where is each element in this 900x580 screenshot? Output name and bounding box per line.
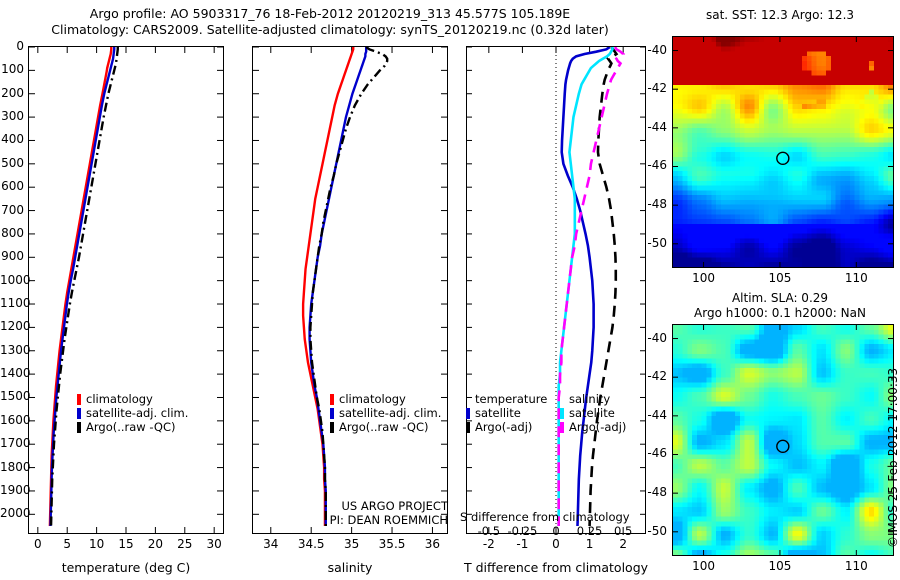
legend-label: Argo(-adj) <box>475 420 532 434</box>
legend-item: Argo(-adj) <box>560 420 626 434</box>
map-x-tick-label: 110 <box>836 559 876 573</box>
difference-top-axis-label: S difference from climatology <box>460 510 656 524</box>
legend-item: climatology <box>77 392 188 406</box>
map-x-tick-label: 100 <box>684 559 724 573</box>
legend-item: Argo(..raw -QC) <box>330 420 441 434</box>
y-tick-label: 0 <box>0 39 24 53</box>
salinity-panel <box>252 46 448 534</box>
legend-label: climatology <box>339 392 406 406</box>
legend-swatch-temperature-satellite <box>466 408 470 419</box>
salinity-profile-plot <box>253 47 447 533</box>
difference-legend-salinity: salinity satellite Argo(-adj) <box>560 392 626 434</box>
x-tick-label: 30 <box>194 537 234 551</box>
legend-swatch-temperature-argo-adj <box>466 422 470 433</box>
temperature-profile-plot <box>29 47 223 533</box>
y-tick-label: 1000 <box>0 273 24 287</box>
temperature-panel <box>28 46 224 534</box>
y-tick-label: 1900 <box>0 483 24 497</box>
principal-investigator-text: PI: DEAN ROEMMICH <box>268 513 448 527</box>
x-tick-label: 36 <box>407 537 457 551</box>
difference-series-3 <box>559 47 623 526</box>
map-y-tick-label: -48 <box>635 197 667 211</box>
difference-series-2 <box>559 47 613 526</box>
map-y-tick-label: -44 <box>635 120 667 134</box>
legend-swatch-satellite-adj <box>330 408 334 419</box>
legend-label: satellite <box>569 406 615 420</box>
y-tick-label: 200 <box>0 86 24 100</box>
salinity-series-2 <box>310 47 387 526</box>
map-y-tick-label: -46 <box>635 158 667 172</box>
y-tick-label: 100 <box>0 62 24 76</box>
salinity-series-1 <box>310 47 367 526</box>
sst-map-image <box>673 37 893 267</box>
difference-bottom-axis-label: T difference from climatology <box>458 560 654 575</box>
sla-map-title-line1: Altim. SLA: 0.29 <box>660 291 900 305</box>
difference-profile-plot <box>467 47 645 533</box>
temperature-series-1 <box>50 47 114 526</box>
y-tick-label: 400 <box>0 132 24 146</box>
y-tick-label: 1300 <box>0 343 24 357</box>
salinity-legend: climatology satellite-adj. clim. Argo(..… <box>330 392 441 434</box>
salinity-x-axis-label: salinity <box>252 560 448 575</box>
temperature-x-axis-label: temperature (deg C) <box>28 560 224 575</box>
legend-item: Argo(-adj) <box>466 420 547 434</box>
y-tick-label: 1100 <box>0 296 24 310</box>
y-tick-label: 500 <box>0 156 24 170</box>
legend-label: Argo(-adj) <box>569 420 626 434</box>
legend-item: satellite <box>466 406 547 420</box>
legend-group-header: salinity <box>569 392 626 406</box>
legend-label: satellite <box>475 406 521 420</box>
legend-item: satellite-adj. clim. <box>330 406 441 420</box>
map-y-tick-label: -42 <box>635 369 667 383</box>
y-tick-label: 1500 <box>0 389 24 403</box>
legend-item: climatology <box>330 392 441 406</box>
y-tick-label: 1700 <box>0 436 24 450</box>
temperature-legend: climatology satellite-adj. clim. Argo(..… <box>77 392 188 434</box>
title-line-2: Climatology: CARS2009. Satellite-adjuste… <box>0 22 660 37</box>
sla-map-title-line2: Argo h1000: 0.1 h2000: NaN <box>660 306 900 320</box>
map-x-tick-label: 110 <box>836 271 876 285</box>
map-y-tick-label: -44 <box>635 408 667 422</box>
y-tick-label: 900 <box>0 249 24 263</box>
temperature-series-0 <box>50 47 111 526</box>
legend-label: satellite-adj. clim. <box>86 406 188 420</box>
y-tick-label: 700 <box>0 203 24 217</box>
temperature-series-2 <box>51 47 118 526</box>
y-tick-label: 300 <box>0 109 24 123</box>
legend-swatch-salinity-satellite <box>560 408 564 419</box>
legend-label: climatology <box>86 392 153 406</box>
map-y-tick-label: -46 <box>635 446 667 460</box>
legend-item: Argo(..raw -QC) <box>77 420 188 434</box>
title-line-1: Argo profile: AO 5903317_76 18-Feb-2012 … <box>0 6 660 21</box>
map-x-tick-label: 100 <box>684 271 724 285</box>
map-y-tick-label: -40 <box>635 331 667 345</box>
legend-item: satellite-adj. clim. <box>77 406 188 420</box>
legend-group-header: temperature <box>475 392 547 406</box>
sla-map <box>672 324 894 556</box>
difference-legend-temperature: temperature satellite Argo(-adj) <box>466 392 547 434</box>
copyright-text: ©IMOS 25-Feb-2012 17:00:33 <box>886 368 900 548</box>
map-y-tick-label: -48 <box>635 485 667 499</box>
map-x-tick-label: 105 <box>760 271 800 285</box>
map-y-tick-label: -50 <box>635 236 667 250</box>
y-tick-label: 2000 <box>0 506 24 520</box>
legend-swatch-satellite-adj <box>77 408 81 419</box>
legend-item: satellite <box>560 406 626 420</box>
legend-swatch-salinity-argo-adj <box>560 422 564 433</box>
map-y-tick-label: -50 <box>635 524 667 538</box>
legend-label: Argo(..raw -QC) <box>86 420 176 434</box>
us-argo-project-text: US ARGO PROJECT <box>268 499 448 513</box>
legend-label: Argo(..raw -QC) <box>339 420 429 434</box>
difference-panel <box>466 46 646 534</box>
legend-label: satellite-adj. clim. <box>339 406 441 420</box>
y-tick-label: 600 <box>0 179 24 193</box>
map-y-tick-label: -42 <box>635 81 667 95</box>
sst-map <box>672 36 894 268</box>
map-y-tick-label: -40 <box>635 43 667 57</box>
x-tick-label-bottom: 2 <box>603 537 643 551</box>
sst-map-title: sat. SST: 12.3 Argo: 12.3 <box>660 8 900 22</box>
sla-map-image <box>673 325 893 555</box>
legend-swatch-climatology <box>330 394 334 405</box>
y-tick-label: 1400 <box>0 366 24 380</box>
y-tick-label: 800 <box>0 226 24 240</box>
legend-swatch-climatology <box>77 394 81 405</box>
legend-swatch-argo-raw <box>330 422 334 433</box>
legend-swatch-argo-raw <box>77 422 81 433</box>
y-tick-label: 1600 <box>0 413 24 427</box>
y-tick-label: 1200 <box>0 319 24 333</box>
map-x-tick-label: 105 <box>760 559 800 573</box>
y-tick-label: 1800 <box>0 460 24 474</box>
